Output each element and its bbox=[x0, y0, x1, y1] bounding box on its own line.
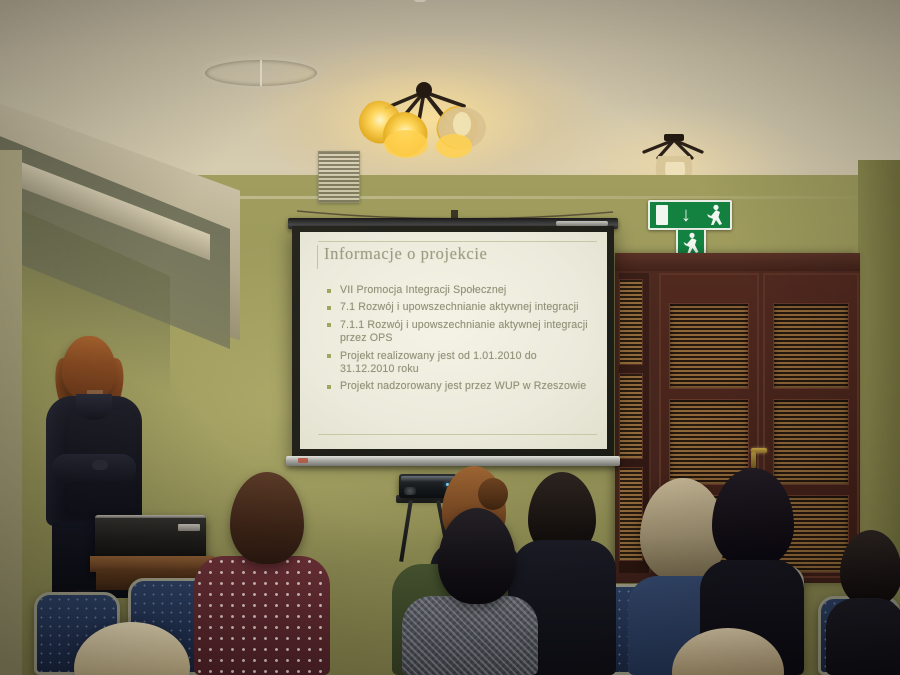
projection-screen: Informacje o projekcie VII Promocja Inte… bbox=[292, 226, 614, 456]
presenter-collar bbox=[76, 394, 112, 420]
door-handle[interactable] bbox=[751, 448, 767, 453]
slide-bullet-3: 7.1.1 Rozwój i upowszechnianie aktywnej … bbox=[324, 319, 593, 346]
ceiling-chandelier bbox=[346, 82, 504, 172]
running-man-icon-2 bbox=[681, 232, 701, 254]
presentation-slide: Informacje o projekcie VII Promocja Inte… bbox=[300, 232, 607, 449]
round-ceiling-diffuser-icon bbox=[205, 60, 317, 86]
slide-bullet-2: 7.1 Rozwój i upowszechnianie aktywnej in… bbox=[324, 301, 593, 314]
slide-bottom-rule bbox=[318, 434, 597, 435]
presenter-hair bbox=[62, 336, 116, 398]
slide-bullet-1: VII Promocja Integracji Społecznej bbox=[324, 284, 593, 297]
attendee-far-right-body bbox=[826, 598, 900, 675]
projector-highlight bbox=[401, 476, 455, 482]
exit-signs: ↓ bbox=[648, 200, 732, 258]
slide-top-rule bbox=[318, 241, 597, 242]
side-pane-2 bbox=[619, 373, 643, 459]
slide-bullet-4: Projekt realizowany jest od 1.01.2010 do… bbox=[324, 350, 593, 377]
arrow-down-icon: ↓ bbox=[681, 205, 691, 225]
wall-vent-grille-icon bbox=[318, 151, 360, 203]
slide-title: Informacje o projekcie bbox=[324, 244, 487, 264]
attendee-polkadot-body bbox=[194, 556, 330, 675]
slide-bullet-list: VII Promocja Integracji Społecznej 7.1 R… bbox=[324, 284, 593, 398]
conference-room-photo: ↓ bbox=[0, 0, 900, 675]
side-pane-3 bbox=[619, 467, 643, 561]
running-man-icon bbox=[704, 204, 724, 226]
attendee-ponytail-bun bbox=[478, 478, 508, 510]
attendee-far-right-head bbox=[840, 530, 900, 606]
presenter-hand bbox=[92, 460, 108, 470]
door-glass-pane-1 bbox=[669, 303, 749, 389]
exit-sign-top-icon: ↓ bbox=[648, 200, 732, 230]
slide-title-accent bbox=[317, 245, 318, 269]
wall-left bbox=[0, 150, 22, 675]
stand-leg-1 bbox=[399, 500, 413, 562]
screen-bottom-bar bbox=[286, 456, 620, 466]
side-pane-1 bbox=[619, 279, 643, 365]
laptop[interactable] bbox=[95, 515, 206, 559]
door-glass-pane-4 bbox=[773, 303, 849, 389]
projector-lens-icon bbox=[404, 487, 416, 495]
attendee-knit-grey-body bbox=[402, 596, 538, 675]
door-glass-pane-5 bbox=[773, 399, 849, 485]
laptop-badge bbox=[178, 524, 200, 531]
ceiling-chandelier-partial bbox=[300, 0, 500, 50]
wall-right-pillar bbox=[858, 160, 900, 580]
screen-brand-logo bbox=[298, 458, 308, 463]
door-header bbox=[615, 253, 860, 271]
slide-bullet-5: Projekt nadzorowany jest przez WUP w Rze… bbox=[324, 380, 593, 393]
laptop-lid-edge bbox=[95, 515, 206, 518]
exit-door-glyph bbox=[656, 205, 668, 225]
